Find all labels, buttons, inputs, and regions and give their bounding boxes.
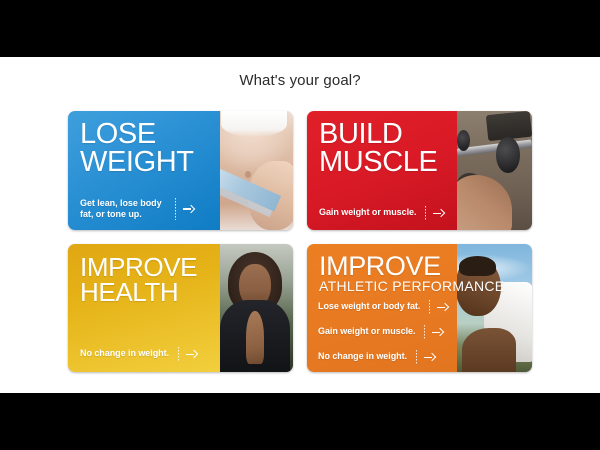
card-headline-line2: ATHLETIC PERFORMANCE <box>319 280 504 294</box>
card-headline: BUILD MUSCLE <box>319 120 437 177</box>
card-headline-line1: IMPROVE <box>319 253 504 279</box>
card-headline: IMPROVE HEALTH <box>80 255 197 306</box>
card-content: LOSE WEIGHT Get lean, lose body fat, or … <box>68 111 293 230</box>
card-options: Lose weight or body fat. Gain weight or … <box>318 300 522 364</box>
screen: What's your goal? LOSE WEIGHT <box>0 0 600 450</box>
arrow-right-icon[interactable] <box>424 352 435 363</box>
content-stage: What's your goal? LOSE WEIGHT <box>0 57 600 393</box>
dotted-divider <box>425 206 426 220</box>
goal-option-label: Get lean, lose body fat, or tone up. <box>80 198 166 221</box>
goal-option[interactable]: Get lean, lose body fat, or tone up. <box>80 198 283 221</box>
card-headline-line2: MUSCLE <box>319 148 437 176</box>
dotted-divider <box>178 347 179 361</box>
arrow-right-icon[interactable] <box>186 349 197 360</box>
arrow-right-icon[interactable] <box>433 208 444 219</box>
letterbox-top-bar <box>0 0 600 57</box>
goal-card-lose-weight[interactable]: LOSE WEIGHT Get lean, lose body fat, or … <box>68 111 293 230</box>
card-options: Gain weight or muscle. <box>319 206 522 220</box>
goal-option[interactable]: Lose weight or body fat. <box>318 300 522 314</box>
goal-card-improve-health[interactable]: IMPROVE HEALTH No change in weight. <box>68 244 293 372</box>
goal-option-label: Gain weight or muscle. <box>319 207 416 218</box>
dotted-divider <box>429 300 430 314</box>
card-options: Get lean, lose body fat, or tone up. <box>80 198 283 221</box>
goal-option-label: No change in weight. <box>80 348 169 359</box>
goal-card-improve-athletic-performance[interactable]: IMPROVE ATHLETIC PERFORMANCE Lose weight… <box>307 244 532 372</box>
dotted-divider <box>175 198 176 221</box>
card-content: BUILD MUSCLE Gain weight or muscle. <box>307 111 532 230</box>
letterbox-bottom-bar <box>0 393 600 450</box>
goal-option-label: Lose weight or body fat. <box>318 301 420 312</box>
card-headline-line1: BUILD <box>319 120 437 148</box>
goal-card-build-muscle[interactable]: BUILD MUSCLE Gain weight or muscle. <box>307 111 532 230</box>
goal-option[interactable]: Gain weight or muscle. <box>319 206 522 220</box>
goal-card-grid: LOSE WEIGHT Get lean, lose body fat, or … <box>68 111 532 372</box>
dotted-divider <box>416 350 417 364</box>
card-headline: IMPROVE ATHLETIC PERFORMANCE <box>319 253 504 294</box>
card-headline-line2: WEIGHT <box>80 148 194 176</box>
arrow-right-icon[interactable] <box>183 203 194 214</box>
goal-option[interactable]: No change in weight. <box>80 347 283 361</box>
goal-option[interactable]: Gain weight or muscle. <box>318 325 522 339</box>
goal-option[interactable]: No change in weight. <box>318 350 522 364</box>
goal-option-label: No change in weight. <box>318 351 407 362</box>
dotted-divider <box>424 325 425 339</box>
card-content: IMPROVE ATHLETIC PERFORMANCE Lose weight… <box>307 244 532 372</box>
card-headline-line1: LOSE <box>80 120 194 148</box>
card-options: No change in weight. <box>80 347 283 361</box>
goal-option-label: Gain weight or muscle. <box>318 326 415 337</box>
arrow-right-icon[interactable] <box>437 302 448 313</box>
card-headline: LOSE WEIGHT <box>80 120 194 177</box>
arrow-right-icon[interactable] <box>432 327 443 338</box>
card-content: IMPROVE HEALTH No change in weight. <box>68 244 293 372</box>
card-headline-line2: HEALTH <box>80 280 197 305</box>
page-title: What's your goal? <box>0 72 600 89</box>
